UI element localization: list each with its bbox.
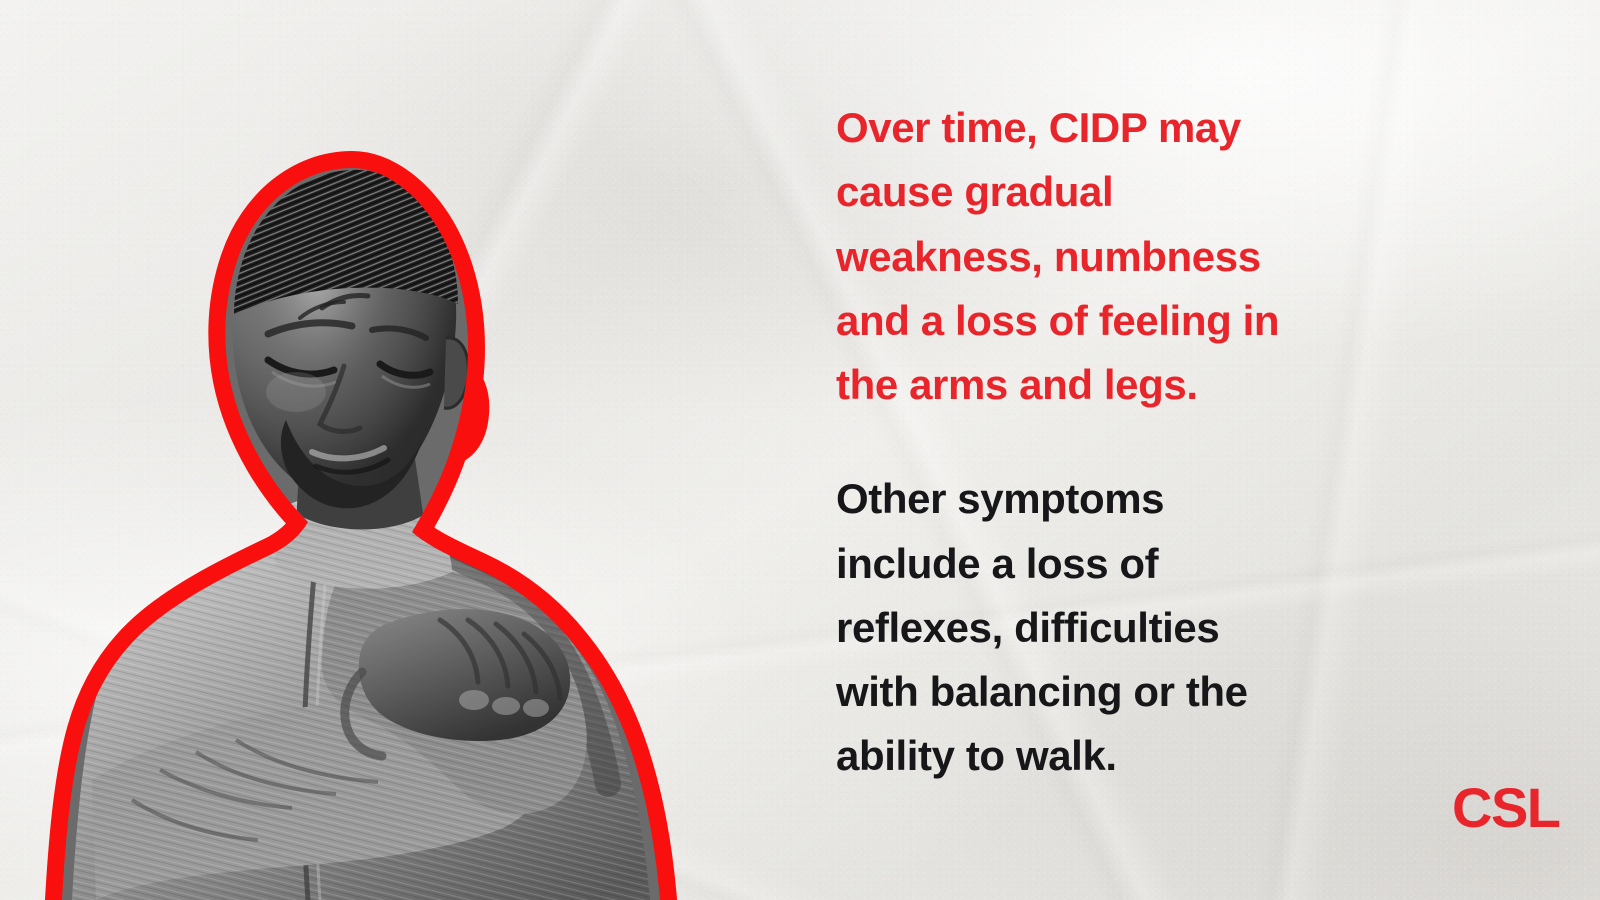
secondary-line-5: ability to walk.	[836, 724, 1436, 788]
primary-line-2: cause gradual	[836, 160, 1436, 224]
primary-line-5: the arms and legs.	[836, 353, 1436, 417]
csl-logo: CSL	[1452, 780, 1560, 836]
text-column: Over time, CIDP may cause gradual weakne…	[836, 96, 1436, 789]
secondary-line-3: reflexes, difficulties	[836, 596, 1436, 660]
secondary-line-4: with balancing or the	[836, 660, 1436, 724]
slide-canvas: Over time, CIDP may cause gradual weakne…	[0, 0, 1600, 900]
primary-line-1: Over time, CIDP may	[836, 96, 1436, 160]
secondary-line-1: Other symptoms	[836, 467, 1436, 531]
hero-photo	[0, 0, 760, 900]
primary-line-4: and a loss of feeling in	[836, 289, 1436, 353]
paragraph-secondary: Other symptoms include a loss of reflexe…	[836, 467, 1436, 788]
secondary-line-2: include a loss of	[836, 532, 1436, 596]
primary-line-3: weakness, numbness	[836, 225, 1436, 289]
paragraph-primary: Over time, CIDP may cause gradual weakne…	[836, 96, 1436, 417]
